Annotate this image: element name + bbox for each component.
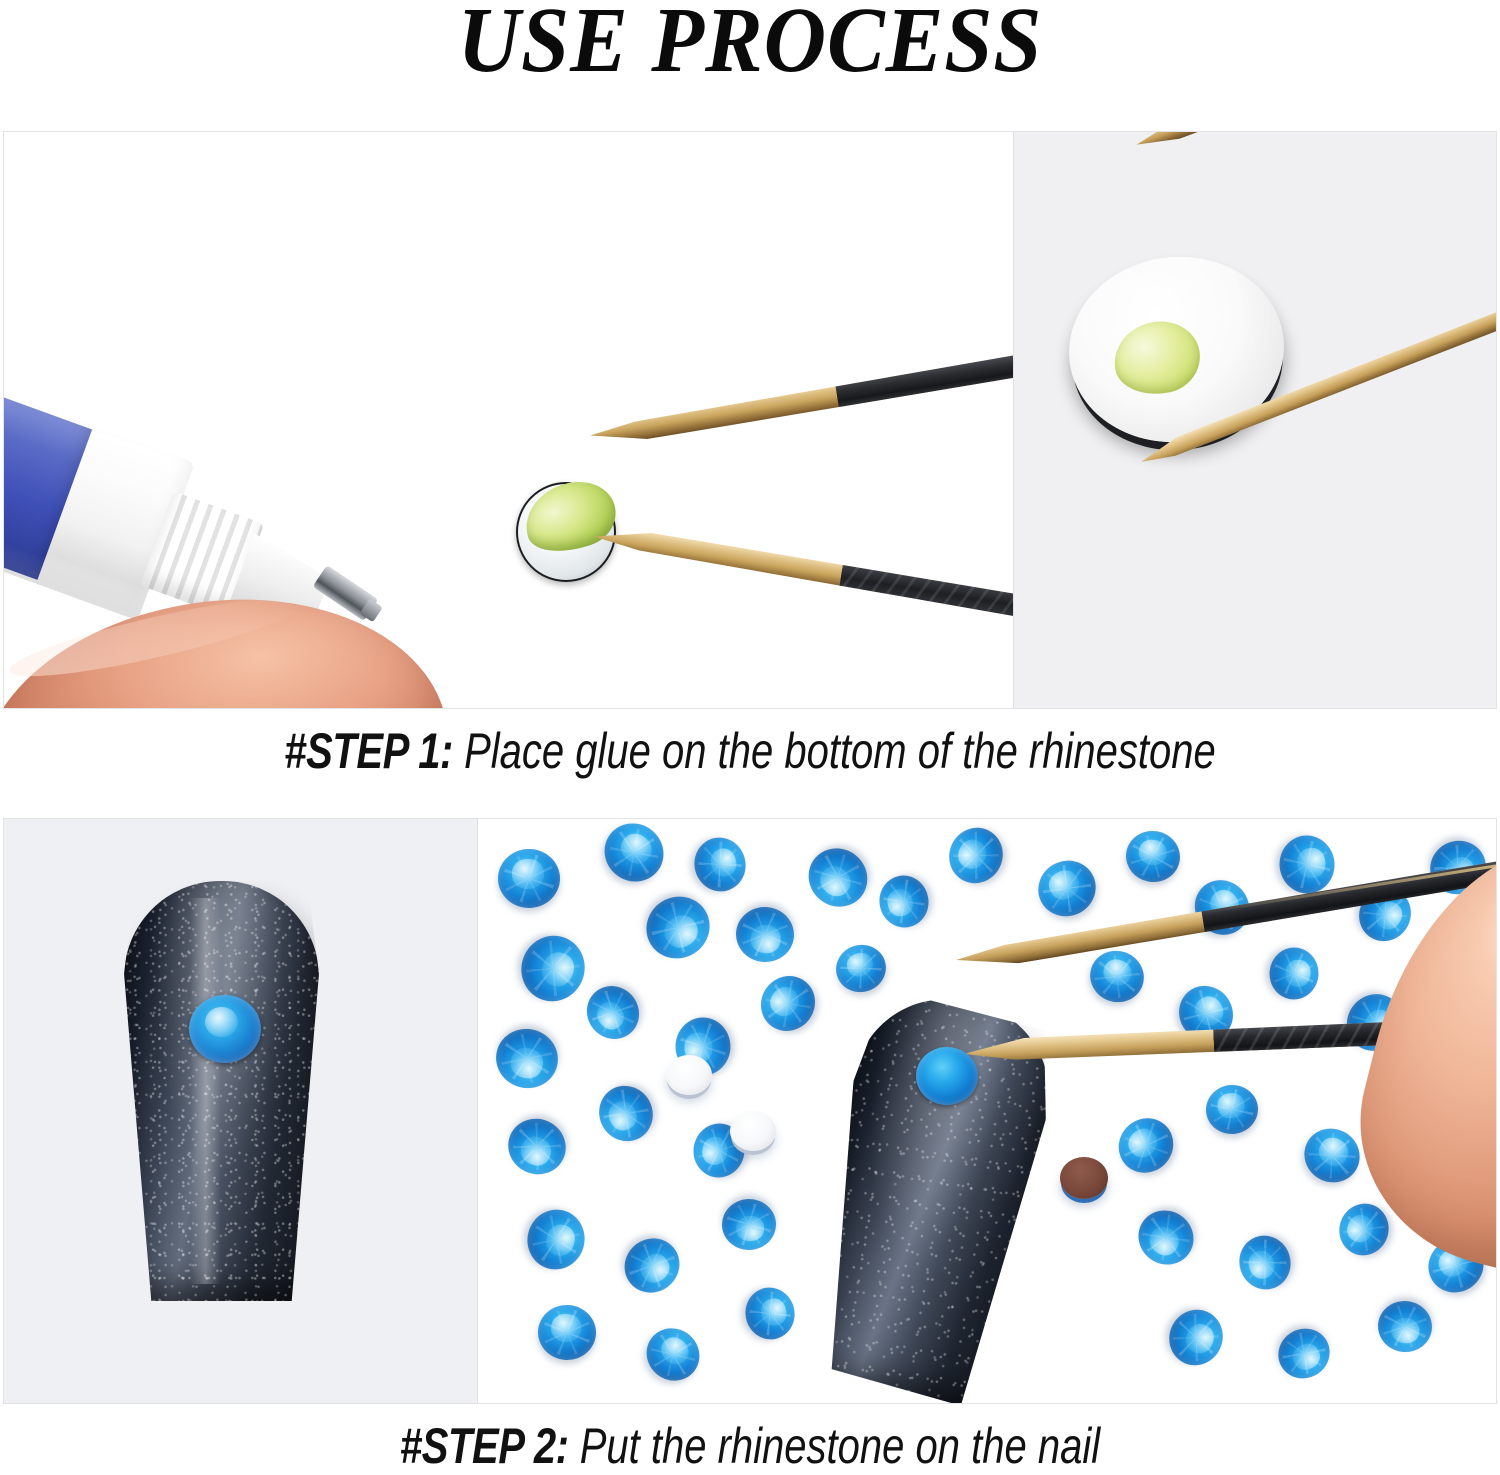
rhinestone-icon (1128, 1200, 1204, 1276)
rhinestone-icon (634, 885, 721, 971)
use-process-infographic: USE PROCESS Rhinestone Glue (0, 0, 1500, 1466)
rhinestone-icon (189, 995, 261, 1063)
rhinestone-icon (1269, 1319, 1338, 1387)
panel-glue-on-flatback (1013, 132, 1496, 708)
page-title: USE PROCESS (53, 0, 1448, 87)
rhinestone-icon (521, 1203, 591, 1275)
step-1-image-row: Rhinestone Glue (3, 131, 1497, 709)
rhinestone-icon (589, 1076, 662, 1150)
rhinestone-flatback-icon (666, 1055, 712, 1095)
rhinestone-being-placed (916, 1047, 978, 1105)
rhinestone-icon (796, 836, 879, 919)
step-2-caption: #STEP 2: Put the rhinestone on the nail (150, 1417, 1350, 1475)
rhinestone-icon (940, 819, 1012, 892)
rhinestone-icon (1122, 827, 1184, 887)
nail-glare (190, 898, 221, 1284)
rhinestone-icon (1203, 1082, 1261, 1137)
rhinestone-flatback-icon (730, 1111, 776, 1151)
rhinestone-icon (750, 965, 826, 1041)
rhinestone-icon (576, 976, 649, 1050)
rhinestone-foil-back-icon (1060, 1157, 1108, 1199)
rhinestone-icon (636, 1318, 710, 1392)
rhinestone-icon (1276, 833, 1337, 896)
step-1-caption: #STEP 1: Place glue on the bottom of the… (150, 722, 1350, 780)
tweezers-icon-lower-arm (592, 524, 1013, 623)
panel-placing-rhinestone (477, 819, 1496, 1403)
rhinestone-icon (1083, 943, 1151, 1009)
rhinestone-icon (1332, 1197, 1395, 1262)
nail-tip-icon (124, 881, 319, 1301)
tweezer-gold-tip (592, 524, 1013, 623)
rhinestone-icon (613, 1227, 690, 1303)
tweezer-gold-tip (588, 349, 1013, 448)
rhinestone-icon (498, 849, 560, 908)
step-1-label: #STEP 1: (284, 723, 453, 779)
rhinestone-icon (733, 905, 796, 965)
rhinestone-icon (536, 1304, 597, 1362)
tweezers-icon-upper-arm (588, 349, 1013, 448)
rhinestone-icon (875, 871, 933, 931)
panel-finished-nail (4, 819, 477, 1403)
step-2-image-row (3, 818, 1497, 1404)
step-1-text: Place glue on the bottom of the rhinesto… (453, 723, 1216, 779)
rhinestone-icon (511, 926, 593, 1010)
rhinestone-icon (1160, 1301, 1231, 1374)
rhinestone-icon (1294, 1119, 1369, 1193)
rhinestone-icon (1267, 946, 1320, 1001)
rhinestone-icon (688, 832, 752, 898)
rhinestone-icon (1107, 1107, 1184, 1184)
rhinestone-icon (830, 939, 892, 999)
rhinestone-icon (489, 1022, 564, 1095)
panel-glue-applying: Rhinestone Glue (4, 132, 1013, 708)
tweezer-black-handle (839, 563, 1013, 625)
rhinestone-icon (721, 1198, 777, 1251)
rhinestone-icon (499, 1109, 575, 1183)
rhinestone-icon (1232, 1229, 1297, 1296)
tweezers-icon-upper-arm (1133, 132, 1496, 153)
rhinestone-icon (593, 819, 675, 893)
tweezer-black-handle (835, 347, 1013, 409)
rhinestone-icon (1374, 1297, 1435, 1355)
rhinestone-icon (1028, 851, 1105, 926)
glue-bottle-label-text: Rhinestone Glue (4, 350, 92, 396)
rhinestone-icon (740, 1283, 799, 1345)
